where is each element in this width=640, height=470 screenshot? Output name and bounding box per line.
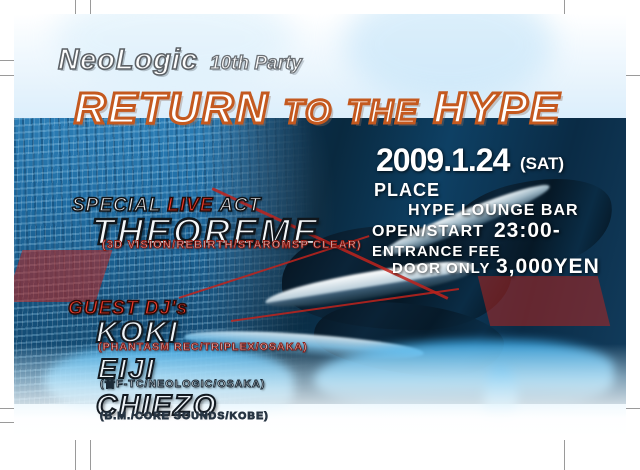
brand-logo: NeoLogic xyxy=(58,46,198,75)
red-shard-c xyxy=(14,250,112,302)
event-info-panel: 2009.1.24 (SAT) PLACE HYPE LOUNGE BAR OP… xyxy=(370,136,626,270)
door-only-label: DOOR ONLY xyxy=(392,260,490,277)
flyer-page: NeoLogic 10th Party RETURN TO THE HYPE 2… xyxy=(0,0,640,470)
entrance-fee-label: ENTRANCE FEE xyxy=(372,243,501,260)
place-label: PLACE xyxy=(374,180,440,201)
brand-party-count: 10th Party xyxy=(210,54,302,73)
event-date: 2009.1.24 xyxy=(376,142,509,179)
title-word-to: TO xyxy=(284,93,333,130)
red-shard-d xyxy=(478,276,610,326)
flyer-artwork: NeoLogic 10th Party RETURN TO THE HYPE 2… xyxy=(14,14,626,440)
ticket-price: 3,000YEN xyxy=(496,255,600,279)
dj-crew-2: (音F-TC/NEOLOGIC/OSAKA) xyxy=(100,376,265,391)
event-weekday: (SAT) xyxy=(520,154,564,174)
venue-name: HYPE LOUNGE BAR xyxy=(408,202,579,220)
title-word-return: RETURN xyxy=(74,84,269,133)
open-label: OPEN/START xyxy=(372,223,484,241)
title-word-hype: HYPE xyxy=(433,84,561,133)
open-time: 23:00- xyxy=(494,219,561,243)
title-word-the: THE xyxy=(347,93,419,130)
dj-crew-1: (PHANTASM REC/TRIPLEX/OSAKA) xyxy=(98,341,308,353)
dj-crew-3: (B.M./CORE SOUNDS/KOBE) xyxy=(100,410,269,422)
live-artist-crew: (3D VISION/REBIRTH/STAROMSP CLEAR) xyxy=(102,240,362,251)
page-title: RETURN TO THE HYPE xyxy=(74,87,561,131)
